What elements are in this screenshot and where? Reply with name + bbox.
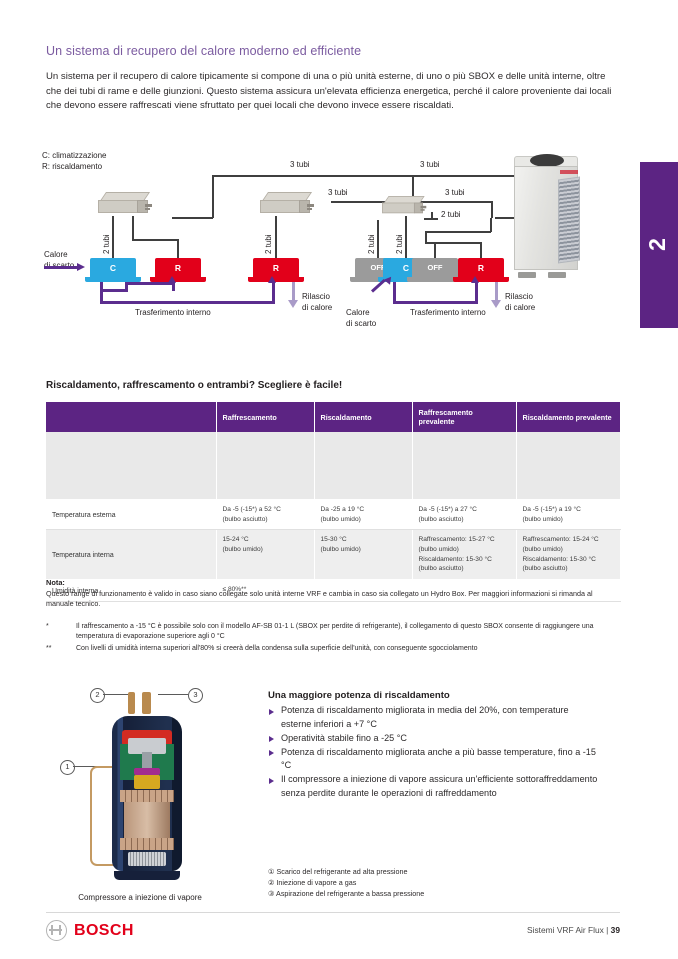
pipe-label-3-c: 3 tubi (328, 188, 348, 197)
sbox-unit-1 (98, 192, 150, 216)
release-heat-line-right (495, 282, 498, 302)
note-title: Nota: (46, 578, 65, 587)
odu-foot-right (548, 272, 566, 278)
footnote-2-marker: ** (46, 644, 64, 654)
sbox-connector-2 (307, 208, 312, 210)
vapor-injection-port (128, 692, 135, 714)
page-title: Un sistema di recupero del calore modern… (46, 44, 606, 58)
table-col-head-0 (46, 402, 216, 432)
brand-logo: BOSCH (46, 920, 134, 941)
row-label-indoor-temp: Temperatura interna (46, 530, 216, 579)
suction-port (142, 692, 151, 714)
compressor-bearing (134, 775, 160, 789)
list-item: Il compressore a iniezione di vapore ass… (268, 773, 598, 800)
benefits-title: Una maggiore potenza di riscaldamento (268, 690, 450, 701)
sbox-connector (421, 206, 427, 208)
flow-r2-up (272, 282, 275, 302)
compressor-rotor (124, 802, 170, 838)
sbox-front-face (260, 200, 300, 213)
table-col-head-4: Riscaldamento prevalente (516, 402, 620, 432)
release-heat-line-left (292, 282, 295, 302)
callout-3: 3 (188, 688, 203, 703)
flow-r2-arrow (268, 276, 276, 283)
key-item-2: ② Iniezione di vapore a gas (268, 877, 598, 888)
cell-outdoor-heating-dom: Da -5 (-15*) a 19 °C(bulbo umido) (516, 500, 620, 530)
cell-indoor-cooling-dom: Raffrescamento: 15-27 °C(bulbo umido)Ris… (412, 530, 516, 579)
release-heat-label-right: Rilascio di calore (505, 280, 535, 313)
footnote-1: * Il raffrescamento a -15 °C è possibile… (46, 622, 616, 641)
note-body: Questo range di funzionamento è valido i… (46, 589, 616, 609)
list-item: Potenza di riscaldamento migliorata in m… (268, 704, 598, 731)
intro-paragraph: Un sistema per il recupero di calore tip… (46, 70, 620, 114)
legend-cooling: C: climatizzazione (42, 150, 106, 161)
sbox-unit-2 (260, 192, 312, 216)
flow-r1-arrow (168, 276, 176, 283)
pipe-2-run-right (425, 231, 491, 233)
cell-outdoor-heating: Da -25 a 19 °C(bulbo umido) (314, 500, 412, 530)
chapter-number: 2 (644, 238, 671, 251)
table-header-row: Raffrescamento Riscaldamento Raffrescame… (46, 402, 620, 432)
pipe-mid-drop-2 (491, 201, 493, 218)
pipe-label-3-b: 3 tubi (420, 160, 440, 169)
pipe-mid-run-2 (416, 201, 492, 203)
compressor-stator-top (120, 790, 174, 802)
outdoor-unit (508, 152, 590, 280)
flow-r3-up (475, 282, 478, 302)
benefits-list: Potenza di riscaldamento migliorata in m… (268, 704, 598, 801)
pipe-2-drop-r3 (480, 242, 482, 258)
icon-cell-heating (314, 432, 412, 500)
room-box-r-2: R (253, 258, 299, 277)
compressor-stator-bottom (120, 838, 174, 850)
footer-page-number: 39 (611, 925, 620, 935)
footer-divider (46, 912, 620, 913)
cell-indoor-heating-dom: Raffrescamento: 15-24 °C(bulbo umido)Ris… (516, 530, 620, 579)
waste-heat-label-right: Calore di scarto (346, 296, 376, 329)
brand-name: BOSCH (74, 922, 134, 940)
flow-r3-arrow (471, 276, 479, 283)
room-box-off-2: OFF (412, 258, 458, 277)
flow-c1-to-r1 (100, 289, 128, 292)
pipe-label-2-c: 2 tubi (367, 234, 376, 254)
table-col-head-2: Riscaldamento (314, 402, 412, 432)
odu-heat-exchanger (558, 176, 580, 263)
room-box-r-1: R (155, 258, 201, 277)
pipe-label-2-b: 2 tubi (264, 234, 273, 254)
pipe-label-3-d: 3 tubi (445, 188, 465, 197)
pipe-drop-left (212, 175, 214, 218)
callout-1: 1 (60, 760, 75, 775)
table-row: Temperatura esterna Da -5 (-15*) a 52 °C… (46, 500, 620, 530)
pipe-2-tee-stem (431, 212, 433, 219)
callout-3-leader (158, 694, 188, 695)
room-box-c-1: C (90, 258, 136, 277)
pipe-2-drop-off1 (377, 220, 379, 258)
discharge-pipe (90, 766, 114, 866)
sbox-front-face (382, 203, 415, 214)
table-row: Temperatura interna 15-24 °C(bulbo umido… (46, 530, 620, 579)
pipe-2-drop-c2 (405, 216, 407, 258)
chapter-tab: 2 (640, 162, 678, 328)
flow-c2-down (393, 282, 396, 302)
compressor-magnet-ring (134, 768, 160, 775)
list-item: Potenza di riscaldamento migliorata anch… (268, 746, 598, 773)
flow-loop-left-run (100, 301, 275, 304)
pipe-label-2-a: 2 tubi (102, 234, 111, 254)
room-box-r-3: R (458, 258, 504, 277)
sbox-connector (145, 204, 152, 207)
table-col-head-1: Raffrescamento (216, 402, 314, 432)
compressor-illustration: 2 3 1 (60, 686, 250, 901)
sbox-connector-2 (421, 209, 425, 211)
cell-outdoor-cooling: Da -5 (-15*) a 52 °C(bulbo asciutto) (216, 500, 314, 530)
list-item: Operatività stabile fino a -25 °C (268, 732, 598, 746)
pipe-2-drop-c1 (112, 216, 114, 258)
pipe-2-run-r1 (132, 239, 178, 241)
table-icon-row (46, 432, 620, 500)
pipe-2-drop-off2 (434, 242, 436, 258)
odu-foot-left (518, 272, 536, 278)
cell-outdoor-cooling-dom: Da -5 (-15*) a 27 °C(bulbo asciutto) (412, 500, 516, 530)
sbox-connector-2 (145, 208, 150, 210)
sbox-front-face (98, 200, 138, 213)
compressor-body (112, 708, 182, 878)
diagram-legend: C: climatizzazione R: riscaldamento (42, 150, 106, 172)
pipe-to-sbox1 (172, 217, 213, 219)
callout-2: 2 (90, 688, 105, 703)
pipe-2-drop-r1b (177, 239, 179, 258)
internal-transfer-label-right: Trasferimento interno (410, 308, 486, 317)
table-title: Riscaldamento, raffrescamento o entrambi… (46, 380, 342, 391)
sbox-connector (307, 204, 314, 207)
release-heat-arrow-right (491, 300, 501, 308)
page-root: Un sistema di recupero del calore modern… (0, 0, 678, 959)
icon-cell-cooling (216, 432, 314, 500)
bosch-anchor-icon (46, 920, 67, 941)
pipe-label-2-d: 2 tubi (395, 234, 404, 254)
release-heat-arrow-left (288, 300, 298, 308)
footer-meta: Sistemi VRF Air Flux | 39 (527, 925, 620, 935)
footer-doc-title: Sistemi VRF Air Flux | (527, 925, 611, 935)
icon-cell-cooling-dominant (412, 432, 516, 500)
footnote-2: ** Con livelli di umidità interna superi… (46, 644, 616, 654)
footnote-2-text: Con livelli di umidità interna superiori… (76, 644, 616, 654)
release-heat-label-left: Rilascio di calore (302, 280, 332, 313)
table-col-head-3: Raffrescamento prevalente (412, 402, 516, 432)
flow-r1-up (172, 282, 175, 291)
key-item-3: ③ Aspirazione del refrigerante a bassa p… (268, 888, 598, 899)
waste-heat-arrow-line (44, 266, 78, 269)
pipe-2-drop-r2 (275, 216, 277, 258)
icon-cell-blank (46, 432, 216, 500)
waste-heat-arrow-head (77, 263, 85, 271)
row-label-outdoor-temp: Temperatura esterna (46, 500, 216, 530)
compressor-key-list: ① Scarico del refrigerante ad alta press… (268, 866, 598, 899)
compressor-base (114, 871, 180, 880)
compressor-oil-pump (128, 852, 166, 866)
flow-loop-right-run (393, 301, 478, 304)
cell-indoor-heating: 15-30 °C(bulbo umido) (314, 530, 412, 579)
compressor-caption: Compressore a iniezione di vapore (30, 893, 250, 902)
operating-range-table: Raffrescamento Riscaldamento Raffrescame… (46, 402, 621, 602)
odu-brand-mark (560, 170, 578, 174)
icon-cell-heating-dominant (516, 432, 620, 500)
pipe-2-riser-right (490, 218, 492, 232)
key-item-1: ① Scarico del refrigerante ad alta press… (268, 866, 598, 877)
footnote-1-marker: * (46, 622, 64, 632)
pipe-2-drop-r1a (132, 216, 134, 240)
heat-recovery-diagram: C: climatizzazione R: riscaldamento 3 tu… (40, 146, 640, 328)
pipe-label-3-a: 3 tubi (290, 160, 310, 169)
pipe-trunk-left (212, 175, 412, 177)
legend-heating: R: riscaldamento (42, 161, 106, 172)
footnote-1-text: Il raffrescamento a -15 °C è possibile s… (76, 622, 616, 641)
cell-indoor-cooling: 15-24 °C(bulbo umido) (216, 530, 314, 579)
internal-transfer-label-left: Trasferimento interno (135, 308, 211, 317)
pipe-label-2-e: 2 tubi (441, 210, 461, 219)
sbox-unit-3 (382, 196, 425, 216)
pipe-trunk-right (412, 175, 520, 177)
